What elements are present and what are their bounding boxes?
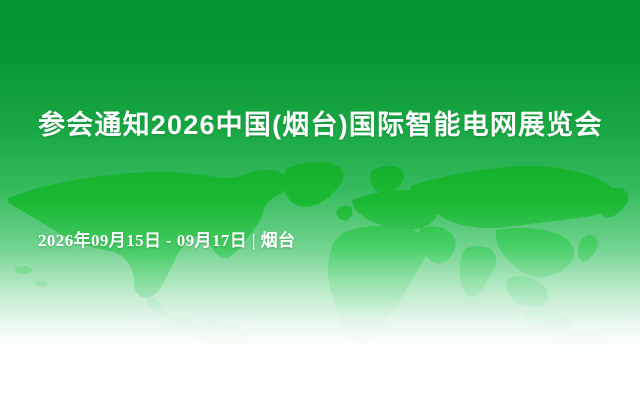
event-banner: 参会通知2026中国(烟台)国际智能电网展览会 2026年09月15日 - 09… [0, 0, 640, 400]
banner-date-location: 2026年09月15日 - 09月17日 | 烟台 [38, 226, 295, 251]
land-far-east [597, 188, 628, 218]
world-map-graphic [0, 0, 640, 400]
land-greenland [284, 162, 344, 207]
land-northern-asia [410, 166, 618, 228]
map-fade-overlay [0, 250, 640, 400]
land-british-isles [336, 205, 352, 221]
land-scandinavia [370, 166, 404, 194]
banner-title: 参会通知2026中国(烟台)国际智能电网展览会 [38, 106, 608, 144]
banner-text-block: 参会通知2026中国(烟台)国际智能电网展览会 [38, 106, 608, 144]
